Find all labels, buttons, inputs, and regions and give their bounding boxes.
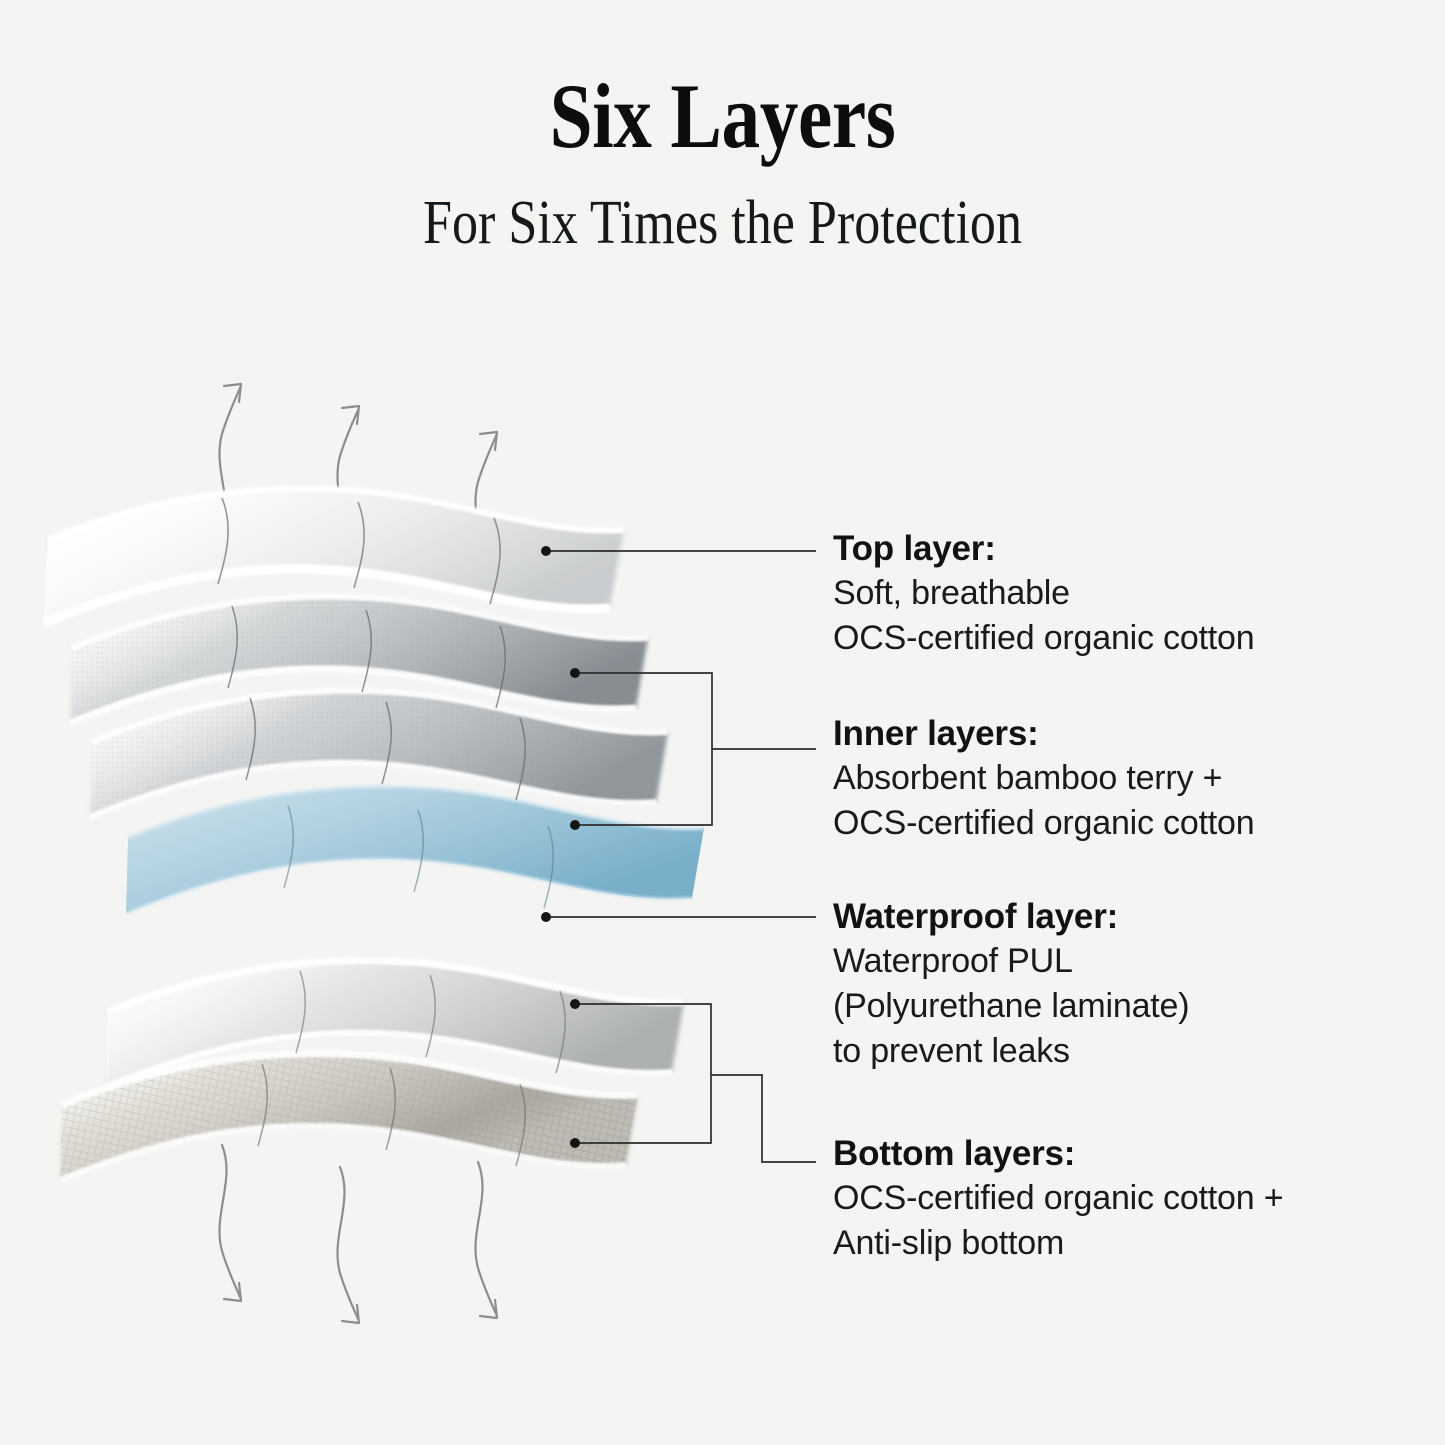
callout-top-line-2: OCS-certified organic cotton xyxy=(833,616,1254,661)
callout-top-layer: Top layer: Soft, breathable OCS-certifie… xyxy=(833,527,1254,661)
airflow-arrow-down-2 xyxy=(337,1167,359,1323)
callout-top-line-1: Soft, breathable xyxy=(833,571,1254,616)
callout-bottom-line-1: OCS-certified organic cotton + xyxy=(833,1176,1283,1221)
airflow-arrows-down xyxy=(219,1145,497,1323)
infographic-canvas: Six Layers For Six Times the Protection xyxy=(0,0,1445,1445)
callout-waterproof-line-1: Waterproof PUL xyxy=(833,939,1189,984)
callout-bottom-heading: Bottom layers: xyxy=(833,1132,1283,1176)
callout-bottom-line-2: Anti-slip bottom xyxy=(833,1221,1283,1266)
callout-inner-heading: Inner layers: xyxy=(833,712,1254,756)
leader-line-waterproof xyxy=(541,912,816,922)
callout-bottom-layers: Bottom layers: OCS-certified organic cot… xyxy=(833,1132,1283,1266)
airflow-arrow-down-1 xyxy=(219,1145,241,1301)
callout-waterproof-line-3: to prevent leaks xyxy=(833,1029,1189,1074)
callout-waterproof-layer: Waterproof layer: Waterproof PUL (Polyur… xyxy=(833,895,1189,1074)
callout-inner-layers: Inner layers: Absorbent bamboo terry + O… xyxy=(833,712,1254,846)
airflow-arrow-down-3 xyxy=(475,1162,497,1318)
layer-sheet-waterproof-pul xyxy=(126,787,704,913)
callout-waterproof-line-2: (Polyurethane laminate) xyxy=(833,984,1189,1029)
callout-inner-line-2: OCS-certified organic cotton xyxy=(833,801,1254,846)
callout-top-heading: Top layer: xyxy=(833,527,1254,571)
callout-inner-line-1: Absorbent bamboo terry + xyxy=(833,756,1254,801)
callout-waterproof-heading: Waterproof layer: xyxy=(833,895,1189,939)
